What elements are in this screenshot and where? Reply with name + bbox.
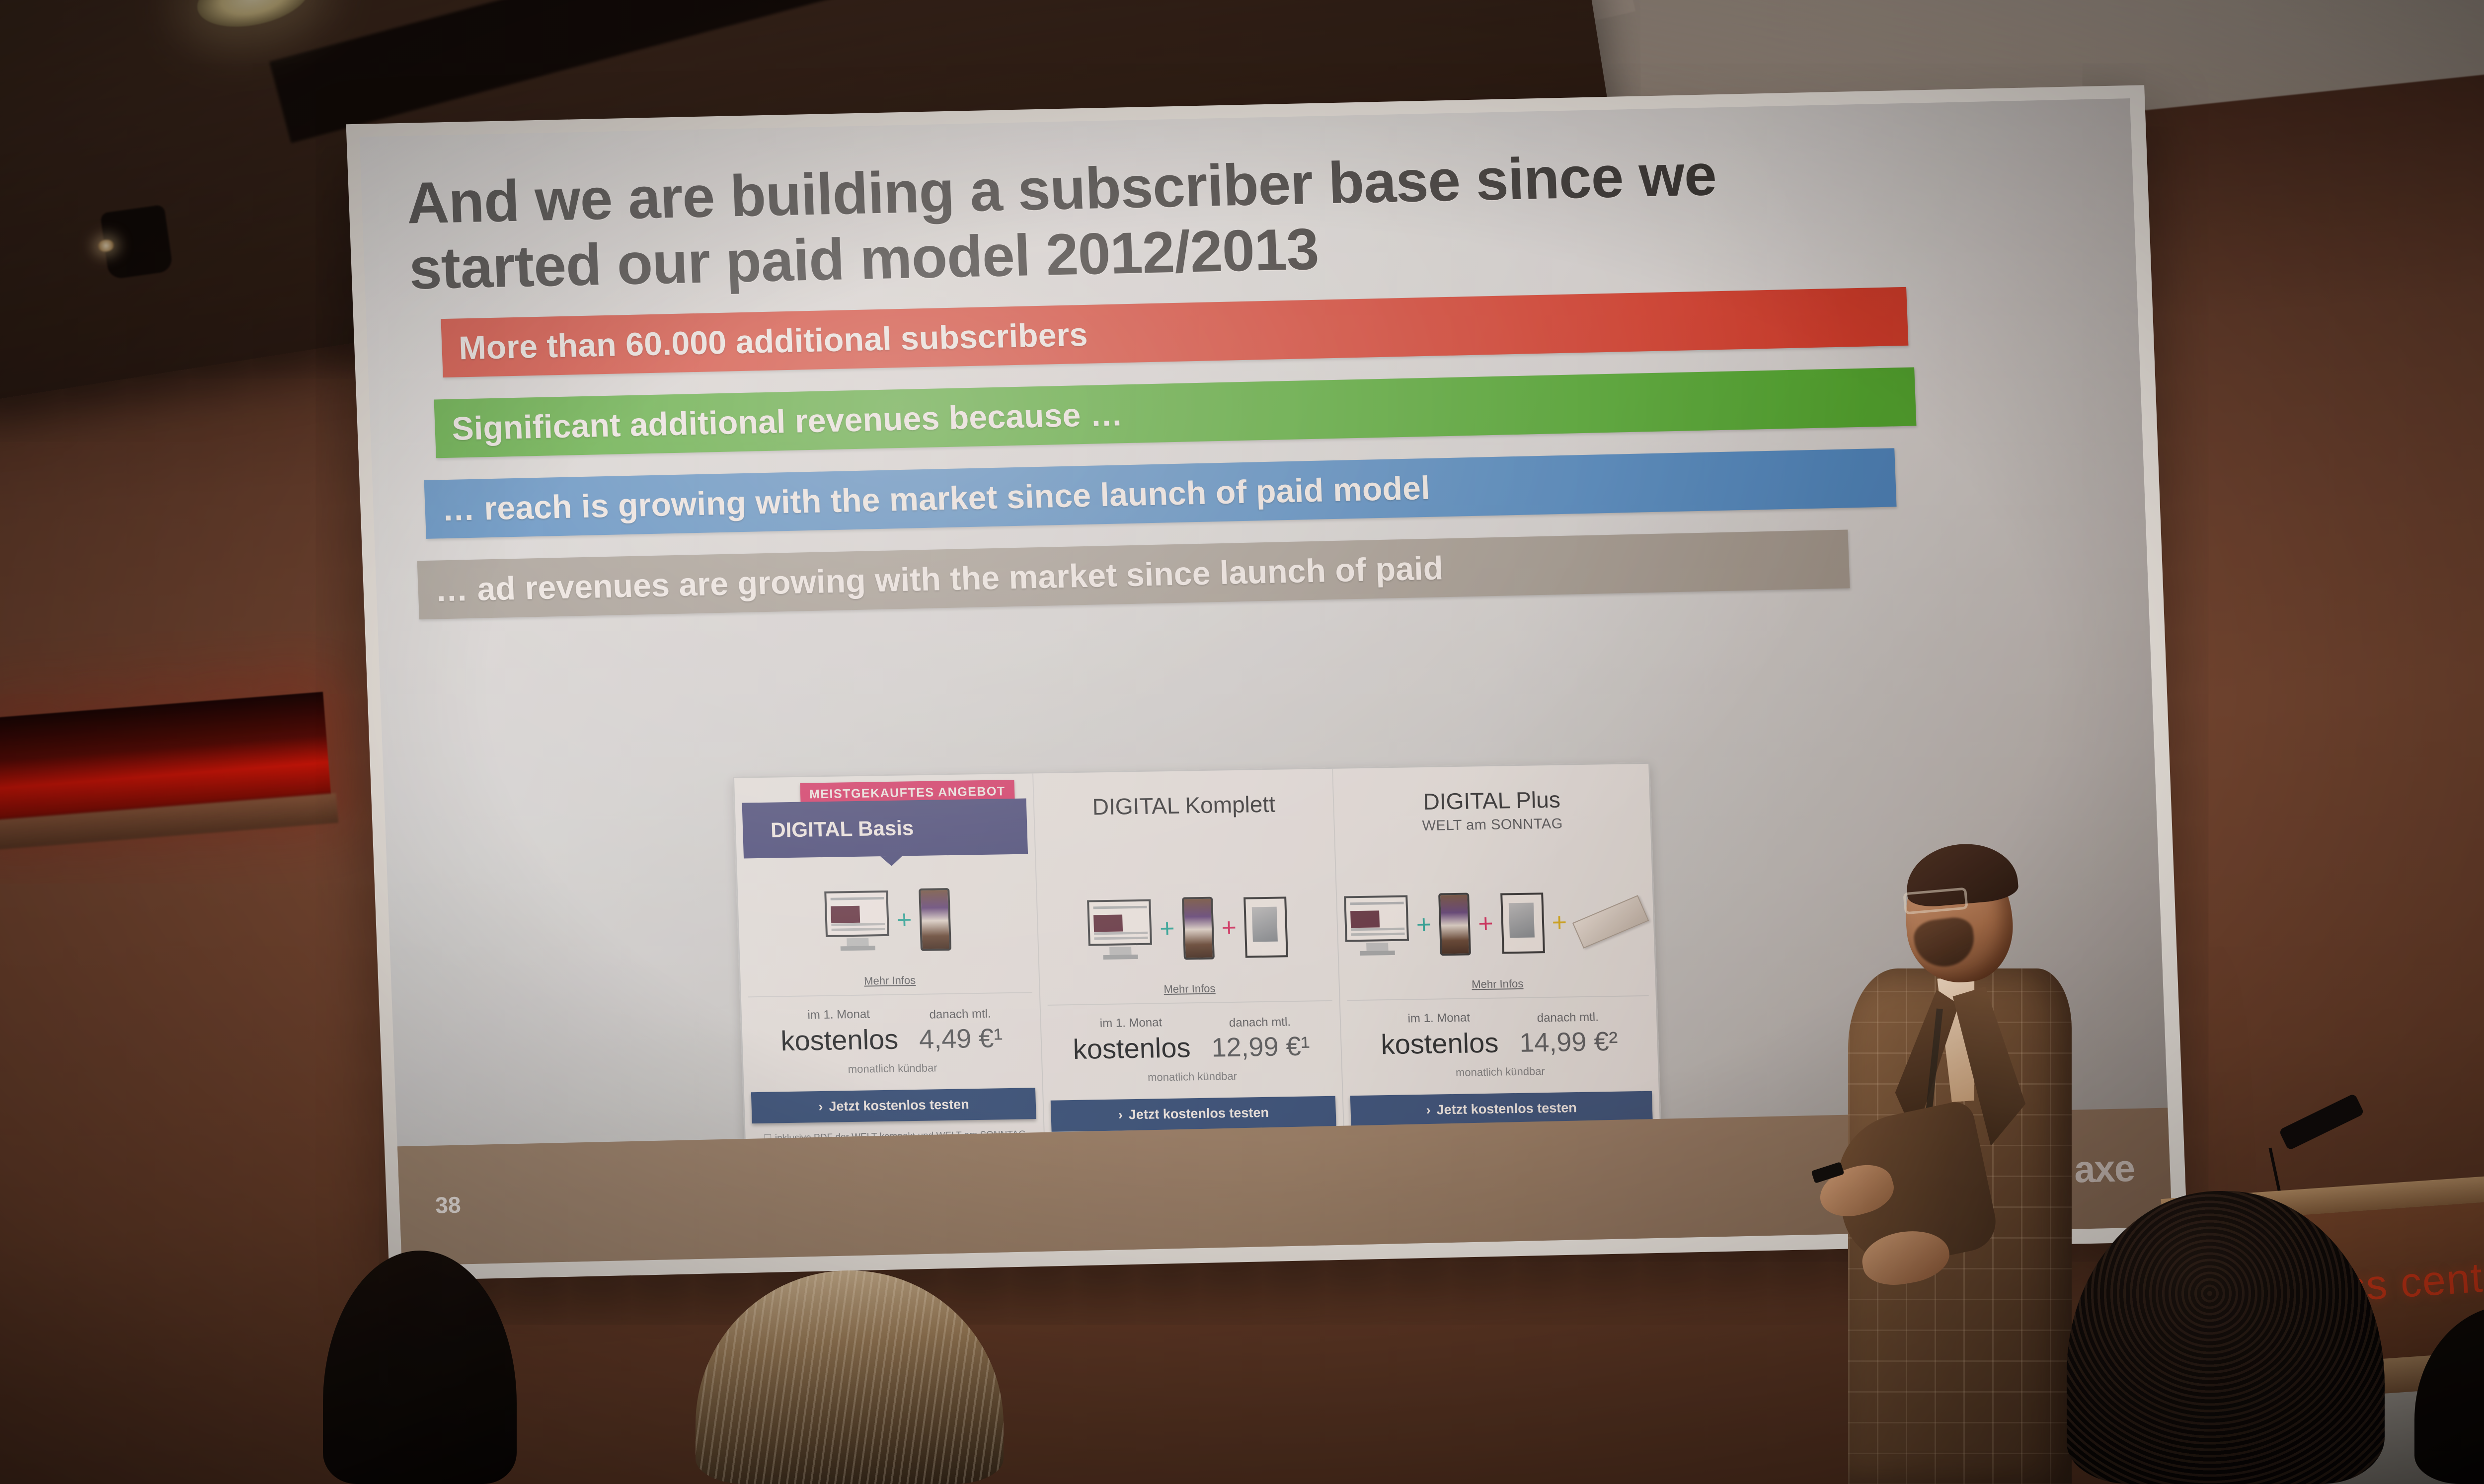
cta-label-2: Jetzt kostenlos testen	[1128, 1105, 1269, 1122]
smartphone-icon	[1182, 897, 1215, 960]
price-after-1: danach mtl. 4,49 €¹	[918, 1007, 1003, 1055]
device-row-1: +	[744, 861, 1032, 979]
cta-button-2[interactable]: ›Jetzt kostenlos testen	[1051, 1096, 1336, 1132]
monitor-icon	[824, 890, 890, 951]
plan-header-2: DIGITAL Komplett	[1041, 777, 1328, 869]
price-kicker-after-3: danach mtl.	[1518, 1010, 1617, 1026]
plan-header-1: MEISTGEKAUFTES ANGEBOT DIGITAL Basis	[741, 782, 1028, 861]
plan-name-box-1: DIGITAL Basis	[742, 799, 1028, 859]
price-kicker-first-2: im 1. Monat	[1072, 1015, 1190, 1031]
price-row-3: im 1. Monat kostenlos danach mtl. 14,99 …	[1347, 995, 1651, 1061]
price-row-2: im 1. Monat kostenlos danach mtl. 12,99 …	[1048, 1000, 1334, 1066]
device-row-2: + +	[1044, 869, 1332, 988]
conference-photo: And we are building a subscriber base si…	[0, 0, 2484, 1484]
bar-green-label: Significant additional revenues because …	[434, 395, 1123, 448]
bar-red: More than 60.000 additional subscribers	[441, 287, 1908, 377]
chevron-right-icon: ›	[818, 1099, 823, 1114]
cta-button-1[interactable]: ›Jetzt kostenlos testen	[751, 1088, 1036, 1123]
plan-card-digital-basis[interactable]: MEISTGEKAUFTES ANGEBOT DIGITAL Basis +	[734, 773, 1045, 1182]
smartphone-icon	[919, 888, 952, 951]
price-free-1: kostenlos	[780, 1023, 899, 1057]
price-amount-1: 4,49 €¹	[919, 1023, 1003, 1055]
price-kicker-first-1: im 1. Monat	[779, 1007, 897, 1023]
cancel-note-2: monatlich kündbar	[1050, 1068, 1334, 1086]
bar-blue: … reach is growing with the market since…	[424, 448, 1897, 539]
bar-blue-label: … reach is growing with the market since…	[424, 469, 1431, 528]
slide-number: 38	[435, 1191, 461, 1219]
price-first-month-2: im 1. Monat kostenlos	[1072, 1015, 1191, 1065]
price-amount-3: 14,99 €²	[1519, 1026, 1618, 1058]
bar-gray-label: … ad revenues are growing with the marke…	[417, 549, 1444, 609]
price-kicker-after-2: danach mtl.	[1210, 1015, 1309, 1031]
spotlight-fixture	[100, 205, 173, 280]
plan-subtitle-3: WELT am SONNTAG	[1341, 815, 1643, 836]
price-after-2: danach mtl. 12,99 €¹	[1210, 1015, 1310, 1063]
plan-name-3: DIGITAL Plus	[1340, 785, 1643, 816]
bar-red-label: More than 60.000 additional subscribers	[441, 315, 1088, 367]
bar-green: Significant additional revenues because …	[434, 368, 1916, 458]
price-free-2: kostenlos	[1073, 1031, 1191, 1065]
cancel-note-3: monatlich kündbar	[1349, 1063, 1651, 1081]
cta-label-3: Jetzt kostenlos testen	[1436, 1100, 1577, 1117]
price-after-3: danach mtl. 14,99 €²	[1518, 1010, 1618, 1058]
plus-icon: +	[1477, 911, 1493, 937]
newspaper-icon	[1572, 895, 1649, 949]
plus-icon: +	[1416, 912, 1432, 938]
plan-card-digital-plus[interactable]: DIGITAL Plus WELT am SONNTAG + + +	[1332, 764, 1661, 1173]
plan-card-digital-komplett[interactable]: DIGITAL Komplett + + Mehr Infos	[1032, 769, 1344, 1177]
price-row-1: im 1. Monat kostenlos danach mtl. 4,49 €…	[748, 992, 1034, 1057]
chevron-right-icon: ›	[1118, 1107, 1123, 1122]
plus-icon: +	[1221, 915, 1237, 941]
slide-title: And we are building a subscriber base si…	[405, 142, 1752, 302]
plus-icon: +	[1159, 916, 1175, 942]
monitor-icon	[1087, 899, 1153, 960]
price-amount-2: 12,99 €¹	[1211, 1031, 1310, 1063]
plan-name-2: DIGITAL Komplett	[1041, 790, 1326, 821]
price-kicker-after-1: danach mtl.	[918, 1007, 1002, 1022]
plan-name-1: DIGITAL Basis	[743, 816, 914, 842]
price-kicker-first-3: im 1. Monat	[1380, 1011, 1498, 1027]
device-row-3: + + +	[1343, 864, 1648, 983]
tablet-icon	[1243, 896, 1288, 958]
monitor-icon	[1344, 895, 1409, 956]
bar-gray: … ad revenues are growing with the marke…	[417, 530, 1850, 620]
smartphone-icon	[1438, 893, 1471, 956]
price-free-3: kostenlos	[1381, 1027, 1499, 1061]
plus-icon: +	[1552, 909, 1567, 935]
plus-icon: +	[896, 907, 912, 933]
price-first-month-1: im 1. Monat kostenlos	[779, 1007, 899, 1057]
bullet-bars: More than 60.000 additional subscribers …	[411, 283, 2103, 619]
presenter	[1808, 844, 2087, 1484]
cta-label-1: Jetzt kostenlos testen	[829, 1097, 969, 1113]
tablet-icon	[1500, 892, 1545, 954]
pricing-widget: MEISTGEKAUFTES ANGEBOT DIGITAL Basis +	[733, 762, 1663, 1184]
chevron-right-icon: ›	[1426, 1103, 1431, 1117]
plan-header-3: DIGITAL Plus WELT am SONNTAG	[1340, 772, 1644, 864]
price-first-month-3: im 1. Monat kostenlos	[1380, 1011, 1499, 1061]
cancel-note-1: monatlich kündbar	[750, 1060, 1035, 1077]
